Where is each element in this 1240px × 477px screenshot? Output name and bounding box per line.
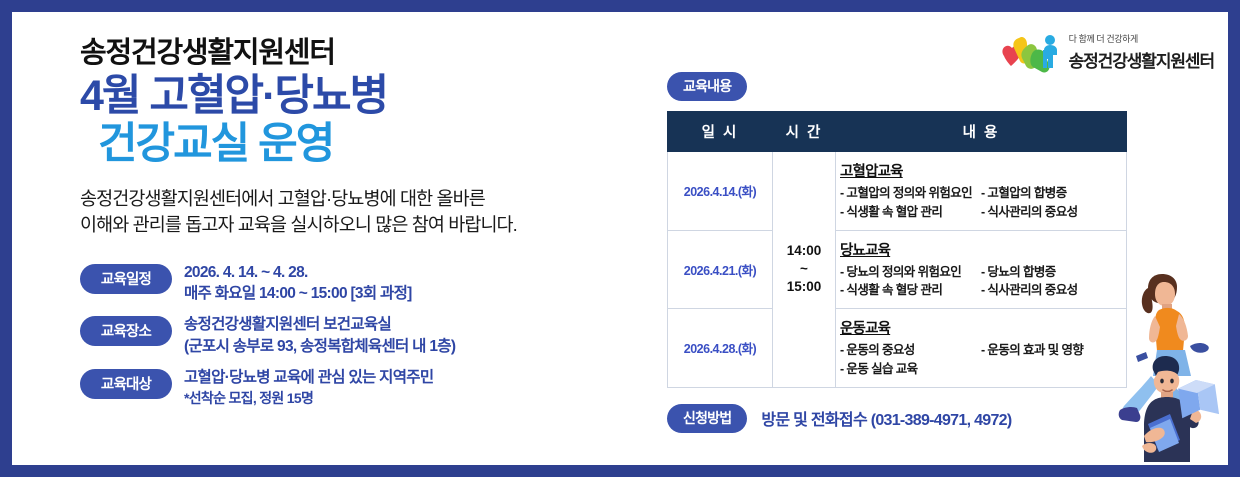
info-location-line-2: (군포시 송부로 93, 송정복합체육센터 내 1층) [184,336,455,357]
content-title-2: 당뇨교육 [840,239,1122,260]
poster-frame: 다 함께 더 건강하게 송정건강생활지원센터 송정건강생활지원센터 4월 고혈압… [0,0,1240,477]
cell-content-1: 고혈압교육 - 고혈압의 정의와 위험요인 - 고혈압의 합병증 - 식생활 속… [836,152,1127,231]
title-line-3: 건강교실 운영 [98,120,640,168]
cell-date-3: 2026.4.28.(화) [668,309,773,388]
table-row: 2026.4.28.(화) 운동교육 - 운동의 중요성 - 운동의 효과 및 … [668,309,1127,388]
content-item: - 식생활 속 혈압 관리 [840,203,981,222]
time-separator: ~ [777,260,831,278]
info-audience-line-1: 고혈압·당뇨병 교육에 관심 있는 지역주민 [184,367,433,388]
cell-date-1: 2026.4.14.(화) [668,152,773,231]
content-items-2: - 당뇨의 정의와 위험요인 - 당뇨의 합병증 - 식생활 속 혈당 관리 -… [840,263,1122,301]
info-label-location: 교육장소 [80,316,172,346]
apply-value: 방문 및 전화접수 (031-389-4971, 4972) [761,406,1011,430]
content-item: - 고혈압의 정의와 위험요인 [840,184,981,203]
content-item: - 고혈압의 합병증 [981,184,1122,203]
column-header-date: 일 시 [668,112,773,152]
content-item: - 운동의 효과 및 영향 [981,341,1122,360]
table-row: 2026.4.21.(화) 당뇨교육 - 당뇨의 정의와 위험요인 - 당뇨의 … [668,230,1127,309]
info-row-schedule: 교육일정 2026. 4. 14. ~ 4. 28. 매주 화요일 14:00 … [80,261,640,305]
info-schedule-line-2: 매주 화요일 14:00 ~ 15:00 [3회 과정] [184,283,412,304]
apply-label: 신청방법 [667,404,747,433]
content-title-3: 운동교육 [840,317,1122,338]
info-row-audience: 교육대상 고혈압·당뇨병 교육에 관심 있는 지역주민 *선착순 모집, 정원 … [80,366,640,408]
content-item: - 식생활 속 혈당 관리 [840,281,981,300]
info-location-line-1: 송정건강생활지원센터 보건교육실 [184,314,455,335]
time-start: 14:00 [777,242,831,260]
logo-text: 다 함께 더 건강하게 송정건강생활지원센터 [1069,32,1214,74]
info-label-schedule: 교육일정 [80,264,172,294]
content-item [981,360,1122,379]
illustrations [1118,250,1228,465]
content-item: - 당뇨의 정의와 위험요인 [840,263,981,282]
content-item: - 운동의 중요성 [840,341,981,360]
apply-row: 신청방법 방문 및 전화접수 (031-389-4971, 4972) [667,404,1137,433]
description-line-2: 이해와 관리를 돕고자 교육을 실시하오니 많은 참여 바랍니다. [80,212,640,238]
poster-canvas: 다 함께 더 건강하게 송정건강생활지원센터 송정건강생활지원센터 4월 고혈압… [12,12,1228,465]
logo-mark-icon [1000,32,1062,74]
description: 송정건강생활지원센터에서 고혈압·당뇨병에 대한 올바른 이해와 관리를 돕고자… [80,186,640,239]
cell-content-3: 운동교육 - 운동의 중요성 - 운동의 효과 및 영향 - 운동 실습 교육 [836,309,1127,388]
info-list: 교육일정 2026. 4. 14. ~ 4. 28. 매주 화요일 14:00 … [80,261,640,408]
info-value-audience: 고혈압·당뇨병 교육에 관심 있는 지역주민 *선착순 모집, 정원 15명 [184,366,433,408]
column-header-time: 시 간 [773,112,836,152]
title-line-1: 송정건강생활지원센터 [80,38,640,70]
info-audience-line-2: *선착순 모집, 정원 15명 [184,389,433,408]
info-value-location: 송정건강생활지원센터 보건교육실 (군포시 송부로 93, 송정복합체육센터 내… [184,313,455,357]
schedule-table: 일 시 시 간 내 용 2026.4.14.(화) 14:00 ~ 15:00 … [667,111,1127,388]
table-row: 2026.4.14.(화) 14:00 ~ 15:00 고혈압교육 - 고혈압의… [668,152,1127,231]
content-items-3: - 운동의 중요성 - 운동의 효과 및 영향 - 운동 실습 교육 [840,341,1122,379]
info-schedule-line-1: 2026. 4. 14. ~ 4. 28. [184,262,412,283]
cell-time-merged: 14:00 ~ 15:00 [773,152,836,388]
cell-content-2: 당뇨교육 - 당뇨의 정의와 위험요인 - 당뇨의 합병증 - 식생활 속 혈당… [836,230,1127,309]
content-item: - 식사관리의 중요성 [981,281,1122,300]
logo-name: 송정건강생활지원센터 [1069,47,1214,72]
content-item: - 식사관리의 중요성 [981,203,1122,222]
logo-tagline: 다 함께 더 건강하게 [1069,32,1214,45]
table-header-row: 일 시 시 간 내 용 [668,112,1127,152]
content-item: - 운동 실습 교육 [840,360,981,379]
section-label-curriculum: 교육내용 [667,72,747,101]
cell-date-2: 2026.4.21.(화) [668,230,773,309]
info-value-schedule: 2026. 4. 14. ~ 4. 28. 매주 화요일 14:00 ~ 15:… [184,261,412,305]
column-header-content: 내 용 [836,112,1127,152]
right-column: 교육내용 일 시 시 간 내 용 2026.4.14.(화) 14:00 ~ 1… [667,72,1137,433]
content-item: - 당뇨의 합병증 [981,263,1122,282]
organization-logo: 다 함께 더 건강하게 송정건강생활지원센터 [1000,32,1214,74]
left-column: 송정건강생활지원센터 4월 고혈압·당뇨병 건강교실 운영 송정건강생활지원센터… [80,38,640,417]
description-line-1: 송정건강생활지원센터에서 고혈압·당뇨병에 대한 올바른 [80,186,640,212]
info-label-audience: 교육대상 [80,369,172,399]
content-items-1: - 고혈압의 정의와 위험요인 - 고혈압의 합병증 - 식생활 속 혈압 관리… [840,184,1122,222]
title-line-2: 4월 고혈압·당뇨병 [80,72,640,120]
time-end: 15:00 [777,278,831,296]
content-title-1: 고혈압교육 [840,160,1122,181]
info-row-location: 교육장소 송정건강생활지원센터 보건교육실 (군포시 송부로 93, 송정복합체… [80,313,640,357]
